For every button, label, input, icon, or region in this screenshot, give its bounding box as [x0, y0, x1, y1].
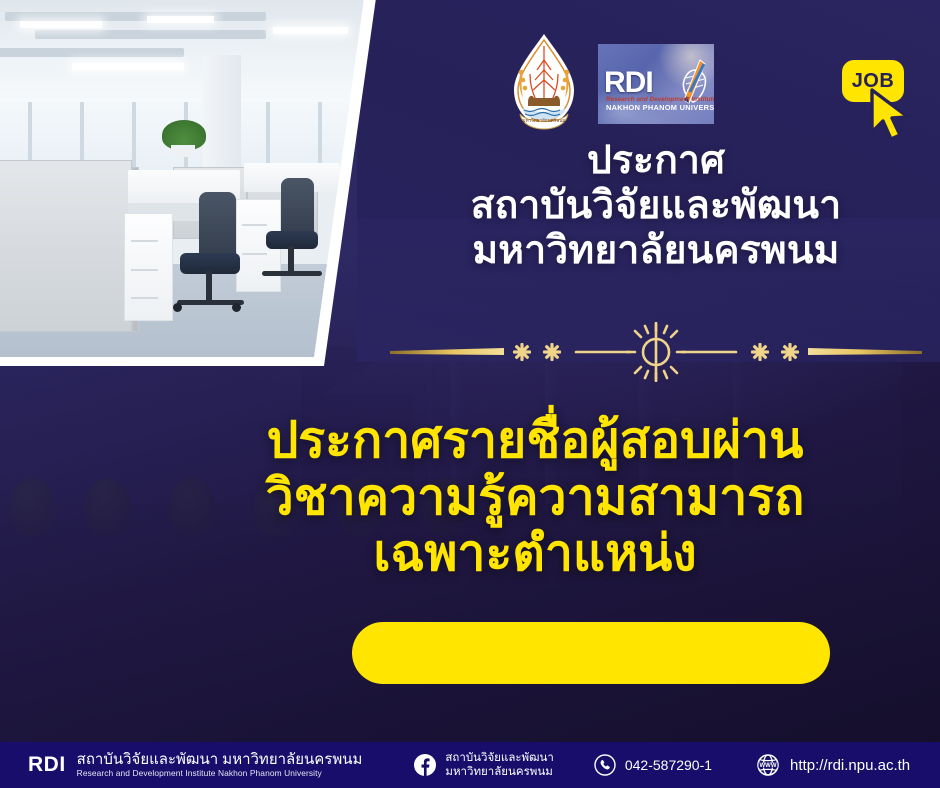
- footer-facebook[interactable]: สถาบันวิจัยและพัฒนา มหาวิทยาลัยนครพนม: [414, 751, 553, 780]
- rdi-logo-subtitle-en: Research and Development Institute: [606, 96, 702, 103]
- footer-facebook-line2: มหาวิทยาลัยนครพนม: [445, 765, 553, 779]
- footer-facebook-line1: สถาบันวิจัยและพัฒนา: [445, 751, 553, 765]
- main-title-line-3: เฉพาะตำแหน่ง: [130, 525, 940, 582]
- office-chair-stem: [206, 271, 212, 300]
- footer-website-url: http://rdi.npu.ac.th: [790, 757, 910, 774]
- ceiling-light: [72, 63, 184, 70]
- poster-canvas: มหาวิทยาลัยนครพนม RDI Research and Devel…: [0, 0, 940, 788]
- desk-cabinet: [124, 213, 172, 321]
- svg-text:WWW: WWW: [760, 763, 777, 769]
- rdi-logo-wordmark: RDI: [604, 66, 653, 100]
- office-chair-base: [262, 271, 322, 276]
- ceiling-duct: [5, 12, 265, 21]
- office-chair-stem: [288, 246, 294, 271]
- ornament-divider: [372, 322, 940, 382]
- announcement-line-2: สถาบันวิจัยและพัฒนา: [372, 183, 940, 228]
- office-photo: [0, 0, 370, 357]
- phone-icon: [594, 754, 616, 776]
- footer-bar: RDI สถาบันวิจัยและพัฒนา มหาวิทยาลัยนครพน…: [0, 742, 940, 788]
- job-badge[interactable]: JOB: [840, 60, 926, 142]
- footer-org-en: Research and Development Institute Nakho…: [77, 769, 363, 778]
- facebook-icon: [414, 754, 436, 776]
- svg-text:มหาวิทยาลัยนครพนม: มหาวิทยาลัยนครพนม: [523, 117, 566, 124]
- main-title-line-2: วิชาความรู้ความสามารถ: [130, 469, 940, 526]
- ceiling-duct: [0, 48, 184, 57]
- cursor-arrow-icon: [866, 88, 922, 142]
- ceiling-light: [273, 27, 347, 34]
- office-photo-frame: [0, 0, 376, 366]
- rdi-logo: RDI Research and Development Institute N…: [598, 44, 714, 124]
- rdi-logo-university-en: NAKHON PHANOM UNIVERSITY: [606, 103, 710, 112]
- announcement-line-1: ประกาศ: [372, 138, 940, 183]
- sun-ornament-icon: [576, 323, 736, 381]
- footer-phone[interactable]: 042-587290-1: [594, 754, 712, 776]
- university-seal-icon: มหาวิทยาลัยนครพนม: [508, 30, 580, 130]
- cta-button[interactable]: [352, 622, 830, 684]
- announcement-heading: ประกาศ สถาบันวิจัยและพัฒนา มหาวิทยาลัยนค…: [372, 138, 940, 274]
- globe-www-icon: WWW: [756, 753, 780, 777]
- main-title-line-1: ประกาศรายชื่อผู้สอบผ่าน: [130, 412, 940, 469]
- ceiling-light: [20, 21, 102, 28]
- ceiling-duct: [35, 30, 266, 39]
- footer-org-th: สถาบันวิจัยและพัฒนา มหาวิทยาลัยนครพนม: [77, 752, 363, 769]
- office-chair-caster: [173, 303, 182, 312]
- footer-org-block: สถาบันวิจัยและพัฒนา มหาวิทยาลัยนครพนม Re…: [77, 752, 363, 778]
- announcement-line-3: มหาวิทยาลัยนครพนม: [372, 228, 940, 273]
- footer-phone-number: 042-587290-1: [625, 757, 712, 773]
- footer-website[interactable]: WWW http://rdi.npu.ac.th: [756, 753, 910, 777]
- footer-rdi-mark: RDI: [28, 753, 66, 777]
- main-title: ประกาศรายชื่อผู้สอบผ่าน วิชาความรู้ความส…: [130, 412, 940, 582]
- ceiling-light: [147, 16, 214, 23]
- cubicle-partition: [0, 160, 132, 332]
- office-plant-pot: [171, 145, 195, 157]
- footer-facebook-text: สถาบันวิจัยและพัฒนา มหาวิทยาลัยนครพนม: [445, 751, 553, 780]
